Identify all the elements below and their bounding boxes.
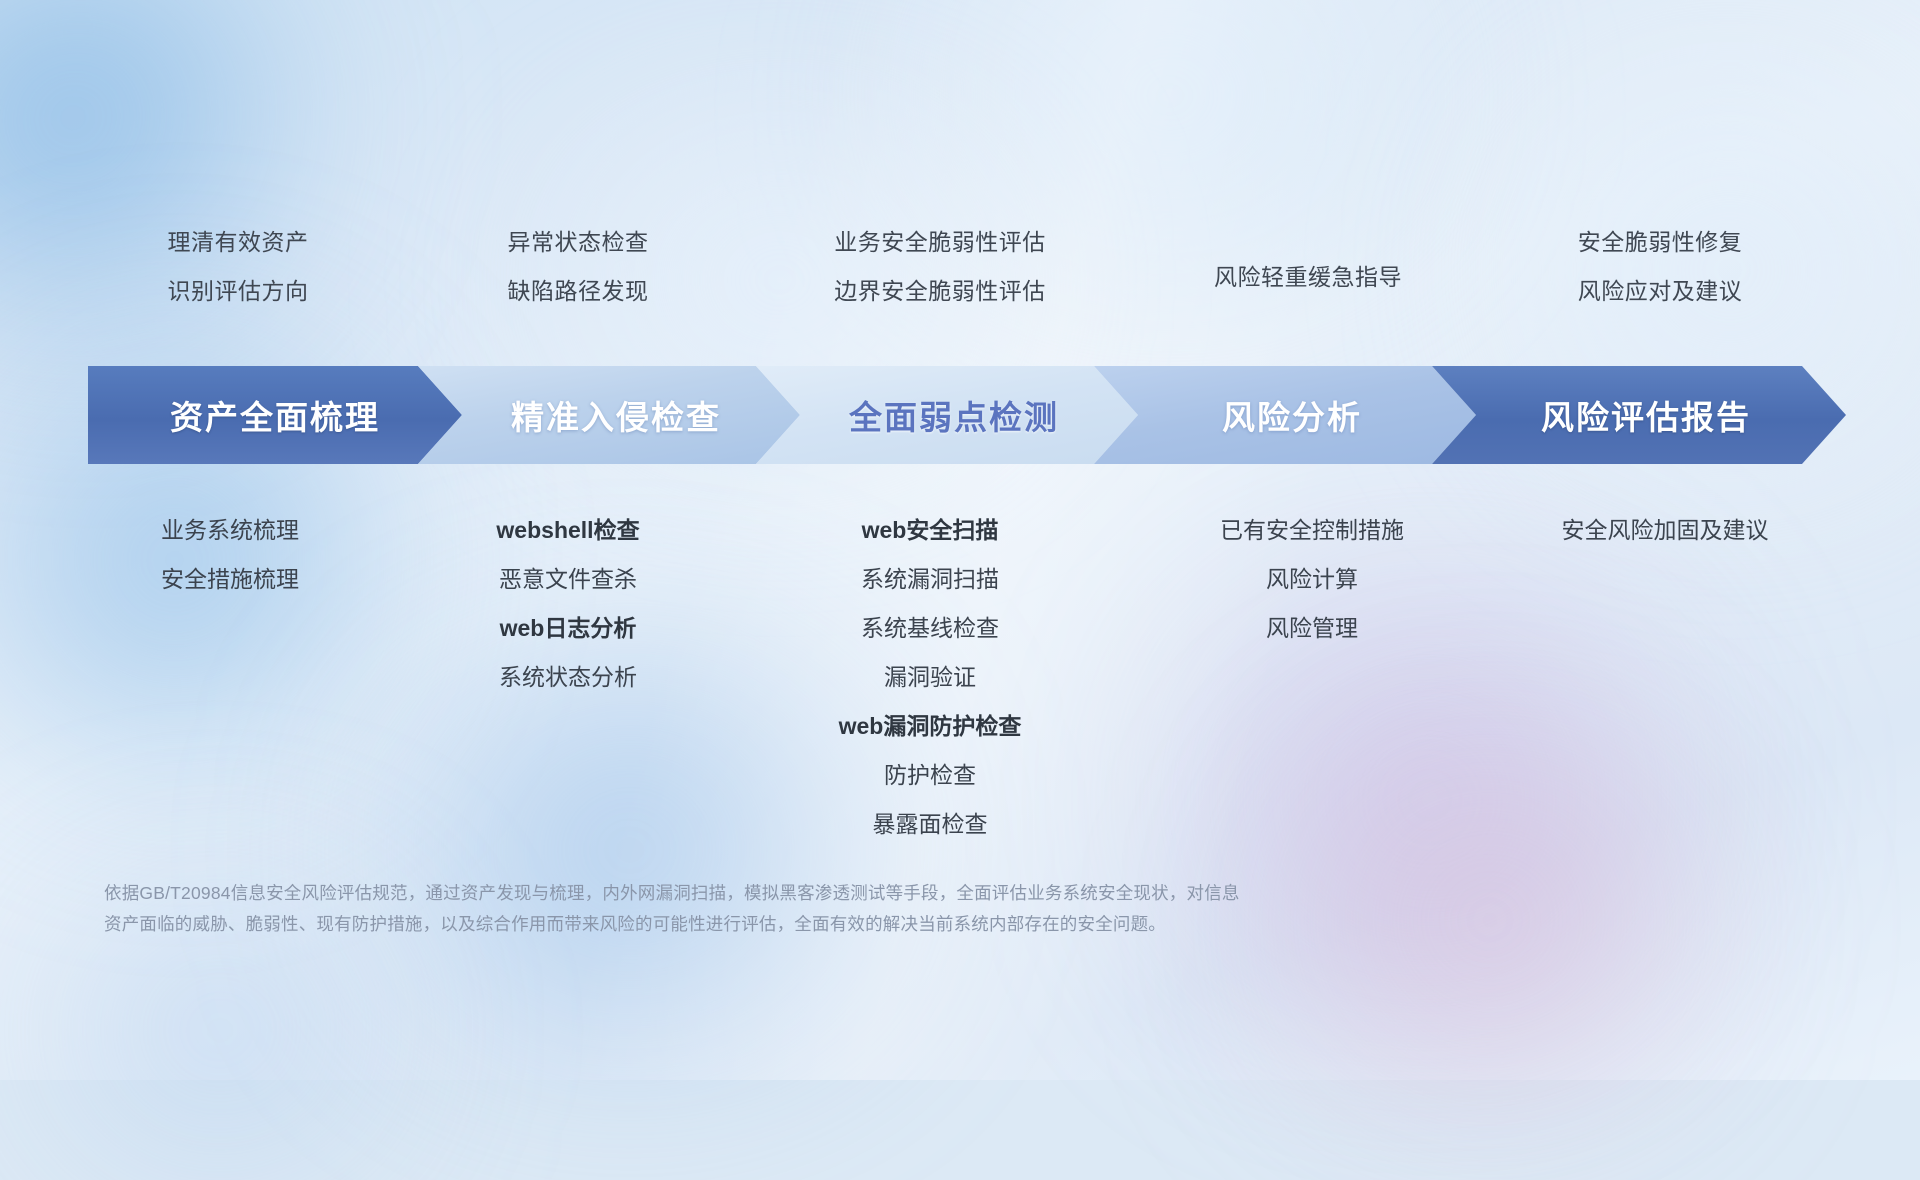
stage-chevron-5[interactable]: 风险评估报告 <box>1432 366 1846 464</box>
top-item: 边界安全脆弱性评估 <box>790 267 1090 316</box>
top-item: 识别评估方向 <box>88 267 388 316</box>
list-item: web日志分析 <box>418 604 718 653</box>
bottom-items-stage-4: 已有安全控制措施 风险计算 风险管理 <box>1162 506 1462 653</box>
stage-label: 全面弱点检测 <box>756 391 1138 439</box>
process-diagram: 理清有效资产 识别评估方向 异常状态检查 缺陷路径发现 业务安全脆弱性评估 边界… <box>0 0 1920 1080</box>
bottom-items-stage-1: 业务系统梳理 安全措施梳理 <box>80 506 380 604</box>
stage-chevron-3[interactable]: 全面弱点检测 <box>756 366 1138 464</box>
bottom-items-stage-2: webshell检查 恶意文件查杀 web日志分析 系统状态分析 <box>418 506 718 702</box>
list-item: web漏洞防护检查 <box>780 702 1080 751</box>
stage-chevron-4[interactable]: 风险分析 <box>1094 366 1476 464</box>
top-item: 业务安全脆弱性评估 <box>790 218 1090 267</box>
list-item: 已有安全控制措施 <box>1162 506 1462 555</box>
list-item: 安全措施梳理 <box>80 555 380 604</box>
footer-description: 依据GB/T20984信息安全风险评估规范，通过资产发现与梳理，内外网漏洞扫描，… <box>104 878 1624 940</box>
list-item: 暴露面检查 <box>780 800 1080 849</box>
list-item: 系统状态分析 <box>418 653 718 702</box>
top-item: 异常状态检查 <box>428 218 728 267</box>
stage-label: 资产全面梳理 <box>88 391 462 439</box>
stage-label: 精准入侵检查 <box>418 391 800 439</box>
list-item: webshell检查 <box>418 506 718 555</box>
top-items-stage-1: 理清有效资产 识别评估方向 <box>88 218 388 316</box>
top-item: 风险应对及建议 <box>1510 267 1810 316</box>
list-item: 系统基线检查 <box>780 604 1080 653</box>
list-item: 业务系统梳理 <box>80 506 380 555</box>
list-item: 风险计算 <box>1162 555 1462 604</box>
top-item: 理清有效资产 <box>88 218 388 267</box>
list-item: 系统漏洞扫描 <box>780 555 1080 604</box>
top-items-stage-5: 安全脆弱性修复 风险应对及建议 <box>1510 218 1810 316</box>
bottom-items-stage-5: 安全风险加固及建议 <box>1500 506 1830 555</box>
list-item: 防护检查 <box>780 751 1080 800</box>
list-item: 漏洞验证 <box>780 653 1080 702</box>
bottom-items-stage-3: web安全扫描 系统漏洞扫描 系统基线检查 漏洞验证 web漏洞防护检查 防护检… <box>780 506 1080 849</box>
top-item: 缺陷路径发现 <box>428 267 728 316</box>
stage-label: 风险分析 <box>1094 391 1476 439</box>
top-items-stage-2: 异常状态检查 缺陷路径发现 <box>428 218 728 316</box>
top-item: 安全脆弱性修复 <box>1510 218 1810 267</box>
list-item: 安全风险加固及建议 <box>1500 506 1830 555</box>
stage-chevron-1[interactable]: 资产全面梳理 <box>88 366 462 464</box>
stage-chevron-2[interactable]: 精准入侵检查 <box>418 366 800 464</box>
list-item: web安全扫描 <box>780 506 1080 555</box>
top-item: 风险轻重缓急指导 <box>1158 253 1458 302</box>
stage-label: 风险评估报告 <box>1432 391 1846 439</box>
footer-line: 依据GB/T20984信息安全风险评估规范，通过资产发现与梳理，内外网漏洞扫描，… <box>104 878 1624 909</box>
list-item: 风险管理 <box>1162 604 1462 653</box>
top-items-stage-4: 风险轻重缓急指导 <box>1158 253 1458 302</box>
footer-line: 资产面临的威胁、脆弱性、现有防护措施，以及综合作用而带来风险的可能性进行评估，全… <box>104 909 1624 940</box>
top-items-stage-3: 业务安全脆弱性评估 边界安全脆弱性评估 <box>790 218 1090 316</box>
stage-chevron-band: 资产全面梳理 精准入侵检查 全面弱点检测 风险分析 风险评估报告 <box>88 366 1846 464</box>
list-item: 恶意文件查杀 <box>418 555 718 604</box>
